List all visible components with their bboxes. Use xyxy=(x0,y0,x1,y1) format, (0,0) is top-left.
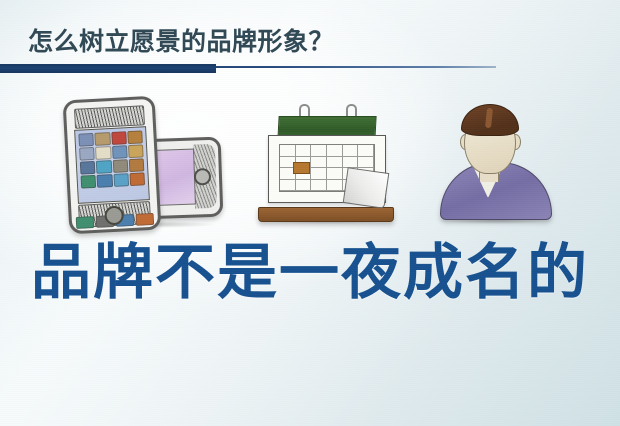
calendar-cell xyxy=(327,180,343,192)
calendar-cell xyxy=(311,168,327,180)
calendar-cell xyxy=(358,145,374,157)
phone-app-icon xyxy=(112,159,128,173)
person-hair xyxy=(461,104,519,136)
phone-app-icon xyxy=(112,145,128,159)
phone-app-icon xyxy=(111,131,127,145)
headline-text: 品牌不是一夜成名的 xyxy=(0,240,620,306)
phone-speaker xyxy=(74,105,145,129)
phone-app-icon xyxy=(81,175,97,189)
calendar-marked-day xyxy=(293,162,310,174)
person-avatar-icon xyxy=(432,94,558,222)
calendar-cell xyxy=(343,145,359,157)
calendar-cell xyxy=(311,180,327,192)
smartphones-icon xyxy=(58,96,223,228)
phone-app-icon xyxy=(128,158,144,172)
phone-app-icon xyxy=(129,172,145,186)
illustration-row xyxy=(0,88,620,228)
phone-dock-icon xyxy=(76,216,95,229)
phone-app-icon xyxy=(95,146,111,160)
phone-dock-icon xyxy=(136,213,155,226)
calendar-cell xyxy=(327,157,343,169)
phone-app-icon xyxy=(128,144,144,158)
calendar-cell xyxy=(311,145,327,157)
calendar-cell xyxy=(343,157,359,169)
calendar-cell xyxy=(327,145,343,157)
calendar-icon xyxy=(256,102,396,222)
calendar-base xyxy=(258,207,394,222)
phone-app-icon xyxy=(80,161,96,175)
title-underline-thick xyxy=(0,64,216,73)
calendar-cell xyxy=(327,168,343,180)
phone-app-grid xyxy=(74,126,150,204)
calendar-page-curl xyxy=(343,167,390,208)
slide-canvas: 怎么树立愿景的品牌形象？ xyxy=(0,0,620,426)
phone-app-icon xyxy=(78,133,94,147)
phone-app-icon xyxy=(97,174,113,188)
page-title: 怎么树立愿景的品牌形象？ xyxy=(28,22,334,58)
calendar-page xyxy=(268,135,386,203)
calendar-cell xyxy=(358,157,374,169)
calendar-cell xyxy=(296,180,312,192)
phone-app-icon xyxy=(96,160,112,174)
calendar-cell xyxy=(296,145,312,157)
calendar-cell xyxy=(280,145,296,157)
calendar-cell xyxy=(280,180,296,192)
calendar-cell xyxy=(311,157,327,169)
phone-app-icon xyxy=(127,130,143,144)
phone-app-icon xyxy=(79,147,95,161)
phone-app-icon xyxy=(113,173,129,187)
phone-front xyxy=(63,96,162,235)
phone-app-icon xyxy=(95,132,111,146)
